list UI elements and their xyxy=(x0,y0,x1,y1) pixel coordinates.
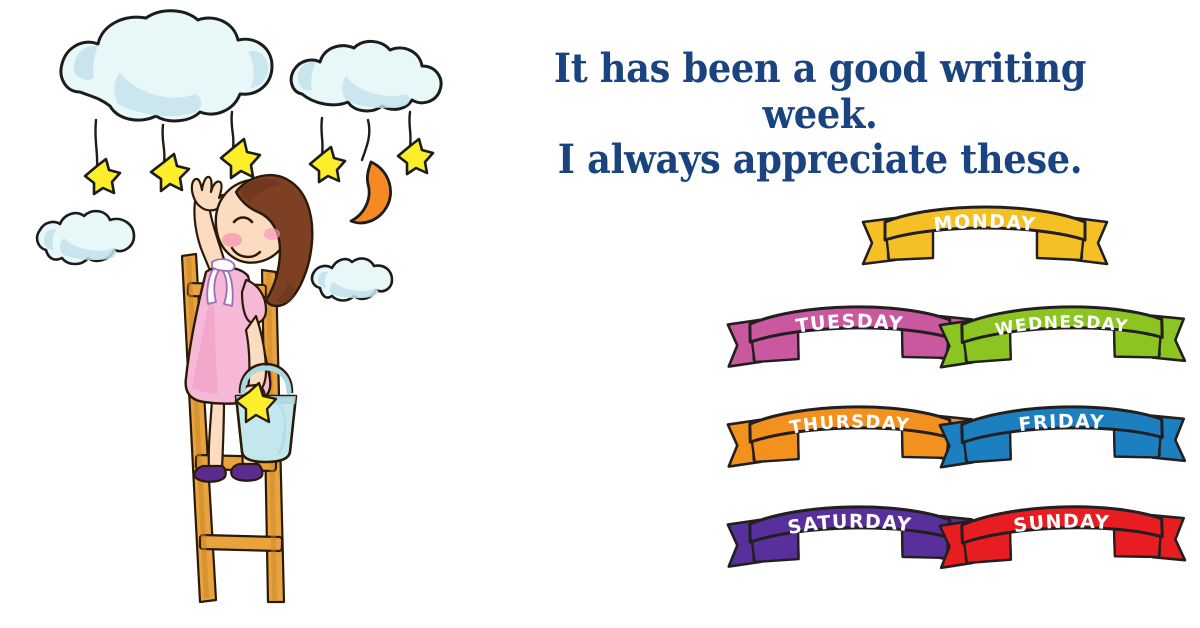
banner-monday[interactable]: MONDAY xyxy=(855,188,1115,272)
cloud-top-right xyxy=(291,41,441,111)
banner-wednesday[interactable]: WEDNESDAY xyxy=(931,285,1193,376)
big-cloud-top-left xyxy=(61,11,272,121)
page-headline: It has been a good writing week. I alway… xyxy=(498,46,1142,183)
hanging-star-1 xyxy=(85,159,120,194)
banner-sunday[interactable]: SUNDAY xyxy=(931,484,1194,576)
small-cloud-left xyxy=(37,211,134,264)
banner-friday[interactable]: FRIDAY xyxy=(931,385,1193,476)
hanging-star-5 xyxy=(398,139,433,174)
banner-label: TUESDAY xyxy=(794,310,905,338)
banner-shape: WEDNESDAY xyxy=(931,285,1193,376)
banner-shape: MONDAY xyxy=(855,188,1115,272)
hanging-star-2 xyxy=(151,154,189,191)
illustration-girl-on-ladder xyxy=(0,0,500,628)
banner-shape: FRIDAY xyxy=(931,385,1193,476)
hanging-star-3 xyxy=(221,139,260,178)
small-cloud-right xyxy=(312,259,392,301)
poster-canvas: It has been a good writing week. I alway… xyxy=(0,0,1200,628)
hanging-star-4 xyxy=(310,147,345,182)
hanging-crescent-moon xyxy=(351,162,391,223)
banner-label: SUNDAY xyxy=(1012,509,1112,537)
banner-shape: SUNDAY xyxy=(931,484,1194,576)
weekday-banner-group: MONDAYTUESDAYWEDNESDAYTHURSDAYFRIDAYSATU… xyxy=(700,188,1200,598)
illustration-svg xyxy=(0,0,500,628)
banner-label: FRIDAY xyxy=(1017,410,1106,437)
